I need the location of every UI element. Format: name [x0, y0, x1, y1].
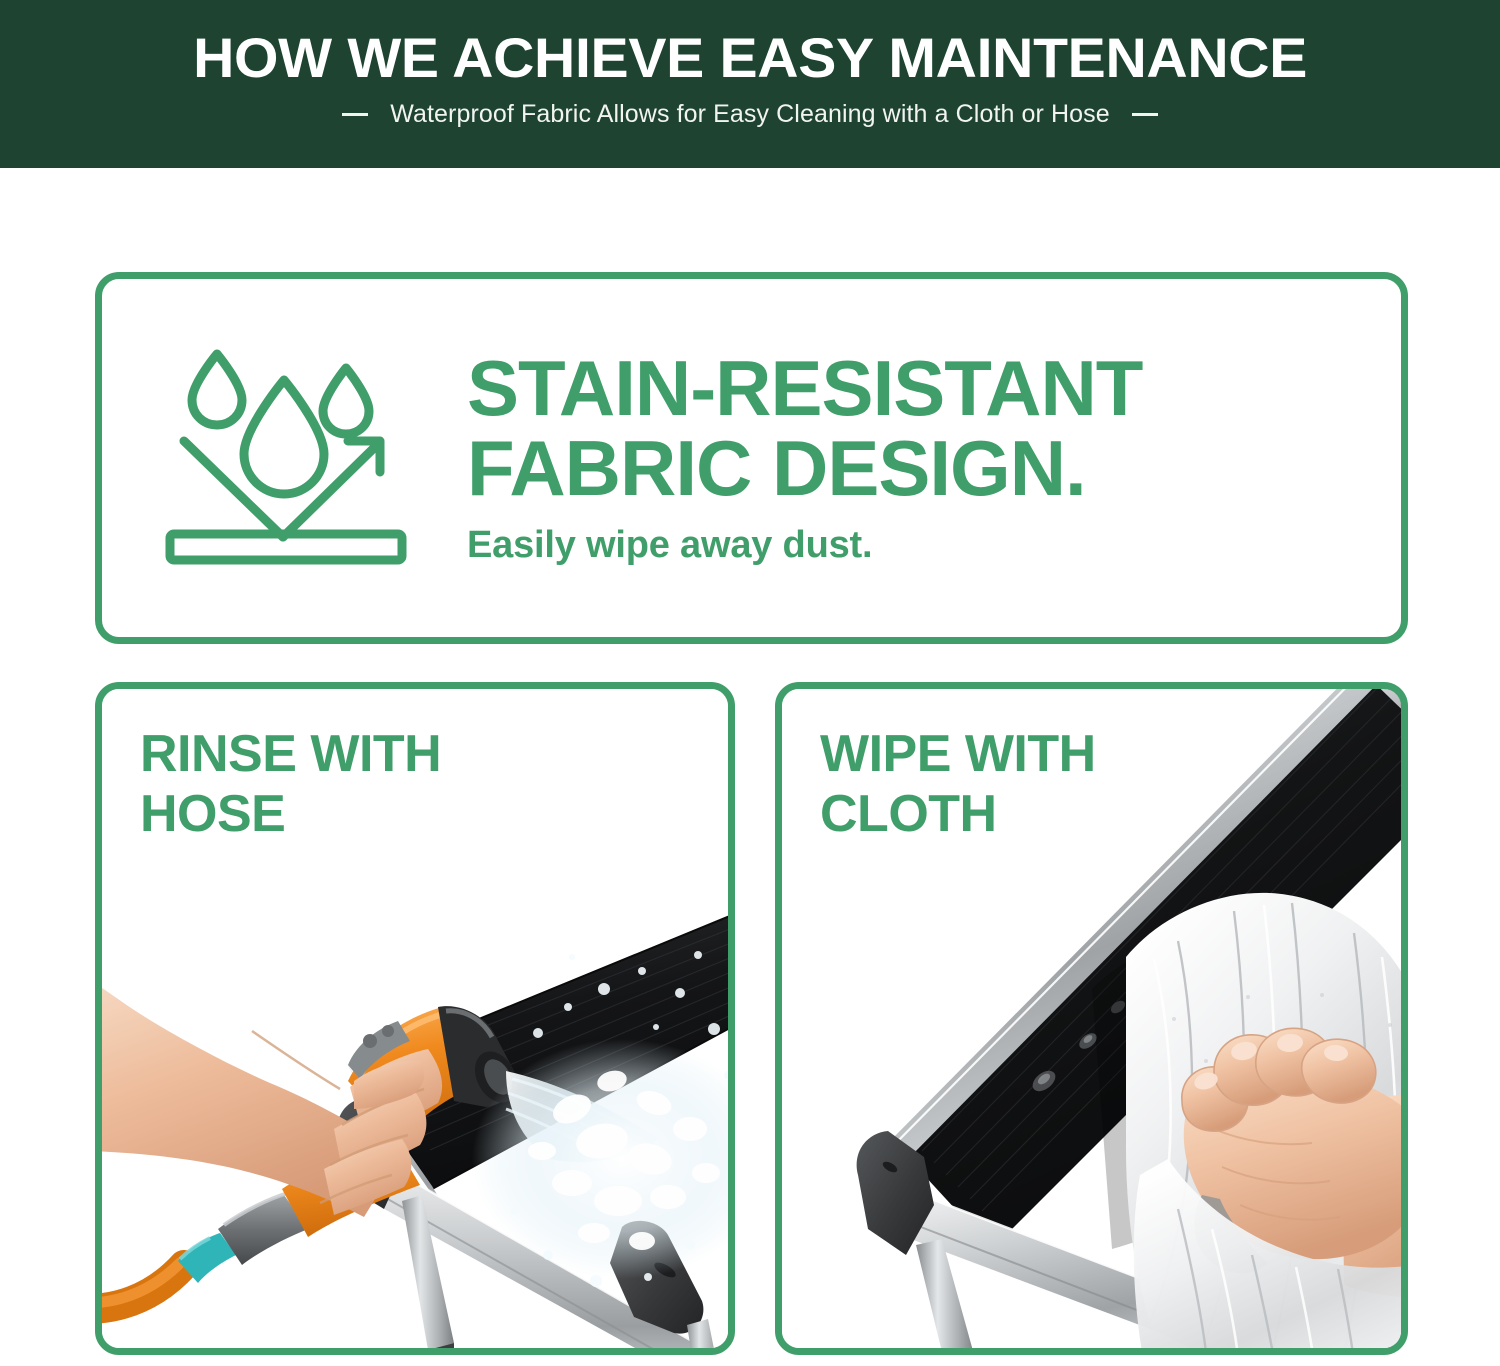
feature-subline: Easily wipe away dust. [467, 524, 1142, 567]
wipe-with-cloth-heading: WIPE WITH CLOTH [820, 725, 1096, 845]
feature-headline-line1: STAIN-RESISTANT [467, 349, 1142, 429]
page-title: HOW WE ACHIEVE EASY MAINTENANCE [193, 29, 1307, 86]
rinse-with-hose-card: RINSE WITH HOSE [95, 682, 735, 1355]
stain-resistant-feature-card: STAIN-RESISTANT FABRIC DESIGN. Easily wi… [95, 272, 1408, 644]
dash-left-icon [342, 113, 368, 116]
rinse-with-hose-heading: RINSE WITH HOSE [140, 725, 441, 845]
feature-headline-line2: FABRIC DESIGN. [467, 429, 1142, 509]
feature-text-block: STAIN-RESISTANT FABRIC DESIGN. Easily wi… [467, 349, 1142, 567]
page-subtitle: Waterproof Fabric Allows for Easy Cleani… [390, 100, 1110, 129]
water-repellent-droplets-icon [162, 338, 412, 578]
header-banner: HOW WE ACHIEVE EASY MAINTENANCE Waterpro… [0, 0, 1500, 168]
header-subtitle-row: Waterproof Fabric Allows for Easy Cleani… [342, 100, 1158, 129]
dash-right-icon [1132, 113, 1158, 116]
wipe-with-cloth-card: WIPE WITH CLOTH [775, 682, 1408, 1355]
